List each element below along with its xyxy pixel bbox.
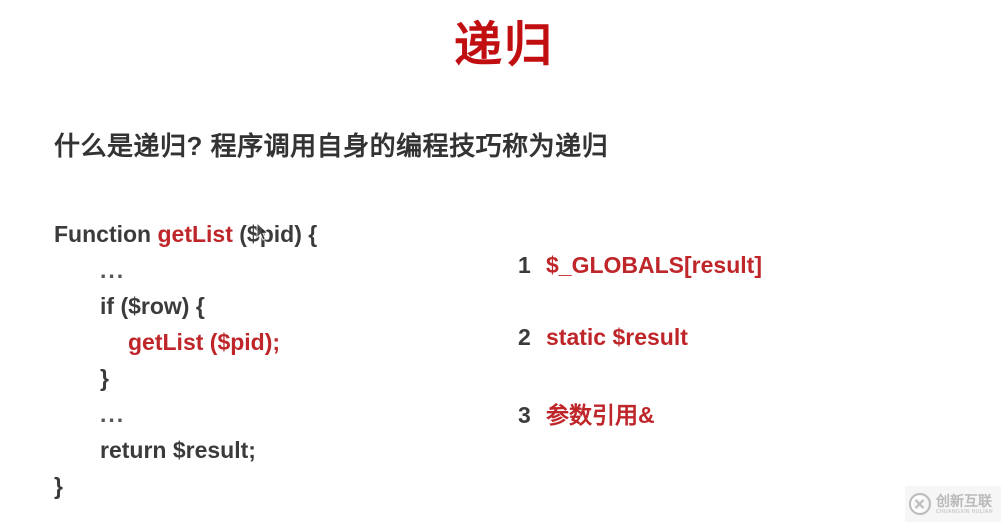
note-number: 1 [518,252,539,279]
watermark: 创新互联 CHUANGXIN HULIAN [905,486,1001,522]
note-item: 1$_GLOBALS[result] [518,252,762,288]
code-token: Function [54,221,157,247]
watermark-logo-icon [908,492,932,516]
code-line: if ($row) { [54,288,317,324]
code-line: } [54,360,317,396]
watermark-en: CHUANGXIN HULIAN [936,510,993,515]
code-token: ($pid) { [233,221,317,247]
watermark-cn: 创新互联 [936,494,993,508]
note-item: 2static $result [518,324,762,360]
page-title: 递归 [0,18,1008,73]
note-number: 2 [518,324,539,351]
code-line: return $result; [54,432,317,468]
code-token: ... [100,257,125,283]
code-line: getList ($pid); [54,324,317,360]
code-token: getList ($pid); [128,329,280,355]
notes-list: 1$_GLOBALS[result]2static $result3参数引用& [518,252,762,468]
note-label: 参数引用& [546,396,655,430]
code-token: return $result; [100,437,256,463]
note-label: $_GLOBALS[result] [546,252,762,279]
code-line: ... [54,396,317,432]
slide-subtitle: 什么是递归? 程序调用自身的编程技巧称为递归 [54,126,608,163]
note-item: 3参数引用& [518,396,762,432]
note-label: static $result [546,324,688,351]
code-line: Function getList ($pid) { [54,216,317,252]
code-token: } [100,365,109,391]
code-line: } [54,468,317,504]
watermark-text: 创新互联 CHUANGXIN HULIAN [936,494,993,515]
code-token: } [54,473,63,499]
code-token: getList [157,221,232,247]
code-line: ... [54,252,317,288]
code-token: if ($row) { [100,293,205,319]
code-token: ... [100,401,125,427]
code-block: Function getList ($pid) {...if ($row) {g… [54,216,317,504]
note-number: 3 [518,402,539,429]
slide-canvas: 递归 什么是递归? 程序调用自身的编程技巧称为递归 Function getLi… [0,0,1008,531]
